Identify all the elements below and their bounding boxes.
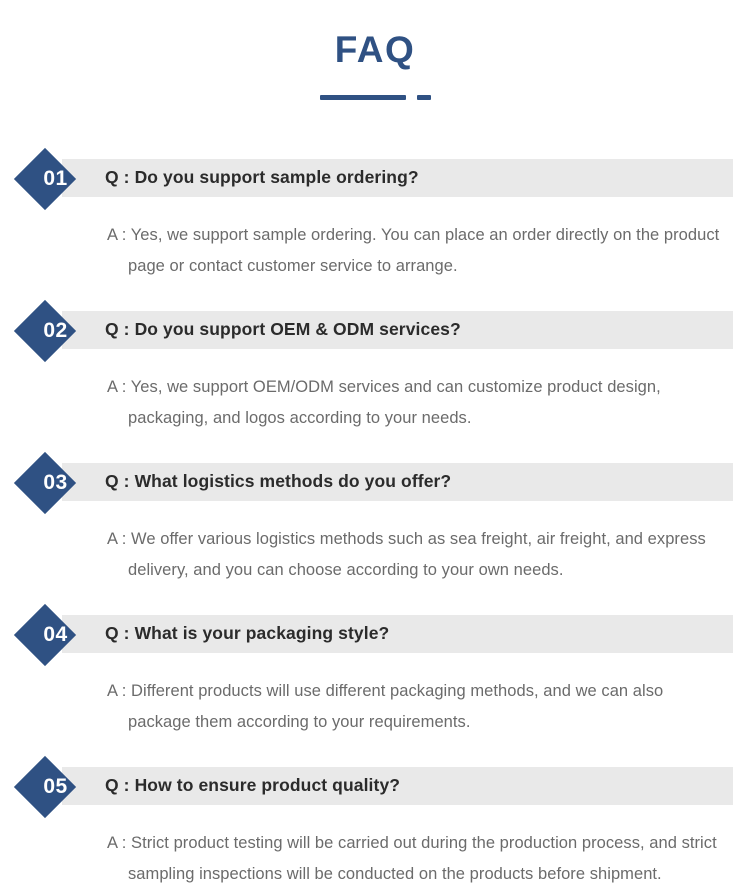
faq-question-text: Q : Do you support OEM & ODM services? [105, 311, 461, 349]
page-title: FAQ [0, 30, 750, 71]
faq-answer-text: A : Strict product testing will be carri… [107, 828, 730, 890]
faq-page: FAQ 01 Q : Do you support sample orderin… [0, 0, 750, 883]
item-spacer [0, 738, 750, 756]
faq-item[interactable]: 03 Q : What logistics methods do you off… [0, 452, 750, 586]
item-spacer [0, 586, 750, 604]
faq-answer-row: A : Strict product testing will be carri… [0, 818, 750, 890]
faq-answer-row: A : Different products will use differen… [0, 666, 750, 738]
faq-number: 02 [23, 300, 88, 362]
title-rule-short-icon [417, 95, 431, 100]
faq-item[interactable]: 04 Q : What is your packaging style? A :… [0, 604, 750, 738]
faq-item[interactable]: 05 Q : How to ensure product quality? A … [0, 756, 750, 890]
faq-question-row[interactable]: 05 Q : How to ensure product quality? [0, 756, 750, 818]
faq-question-row[interactable]: 04 Q : What is your packaging style? [0, 604, 750, 666]
faq-item[interactable]: 02 Q : Do you support OEM & ODM services… [0, 300, 750, 434]
faq-header: FAQ [0, 0, 750, 100]
faq-answer-row: A : Yes, we support sample ordering. You… [0, 210, 750, 282]
faq-question-row[interactable]: 02 Q : Do you support OEM & ODM services… [0, 300, 750, 362]
faq-question-text: Q : How to ensure product quality? [105, 767, 400, 805]
faq-question-text: Q : What is your packaging style? [105, 615, 389, 653]
faq-item[interactable]: 01 Q : Do you support sample ordering? A… [0, 148, 750, 282]
faq-answer-text: A : Different products will use differen… [107, 676, 730, 738]
faq-answer-text: A : Yes, we support sample ordering. You… [107, 220, 730, 282]
item-spacer [0, 282, 750, 300]
faq-list: 01 Q : Do you support sample ordering? A… [0, 148, 750, 890]
faq-answer-text: A : Yes, we support OEM/ODM services and… [107, 372, 730, 434]
faq-answer-text: A : We offer various logistics methods s… [107, 524, 730, 586]
faq-number: 04 [23, 604, 88, 666]
title-underline-group [0, 95, 750, 100]
faq-number: 03 [23, 452, 88, 514]
item-spacer [0, 434, 750, 452]
faq-question-text: Q : What logistics methods do you offer? [105, 463, 451, 501]
faq-number: 01 [23, 148, 88, 210]
faq-question-row[interactable]: 01 Q : Do you support sample ordering? [0, 148, 750, 210]
faq-number: 05 [23, 756, 88, 818]
faq-question-row[interactable]: 03 Q : What logistics methods do you off… [0, 452, 750, 514]
faq-answer-row: A : Yes, we support OEM/ODM services and… [0, 362, 750, 434]
faq-question-text: Q : Do you support sample ordering? [105, 159, 419, 197]
title-rule-long-icon [320, 95, 406, 100]
faq-answer-row: A : We offer various logistics methods s… [0, 514, 750, 586]
